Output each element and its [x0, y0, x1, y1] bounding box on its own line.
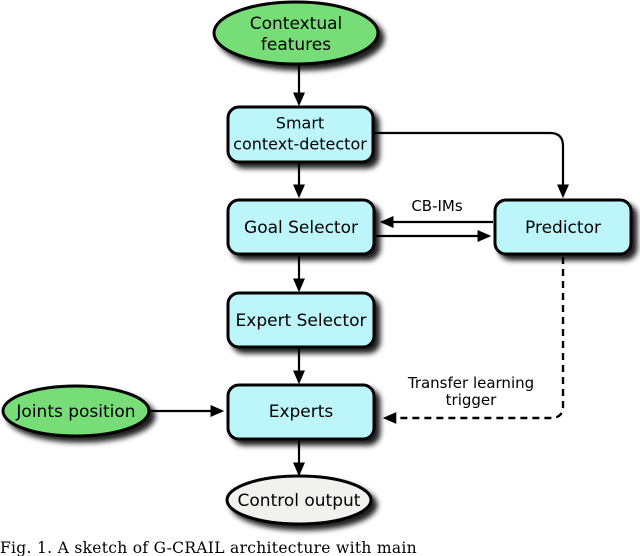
contextual-features-label-line2: features	[261, 35, 331, 55]
node-goal-selector[interactable]: Goal Selector	[228, 200, 374, 254]
smart-context-detector-label-line2: context-detector	[233, 135, 367, 154]
smart-context-detector-label-line1: Smart	[276, 114, 324, 133]
edge-label-transfer-learning-line2: trigger	[446, 391, 497, 409]
node-joints-position[interactable]: Joints position	[3, 386, 149, 436]
edge-detector-to-predictor	[374, 133, 563, 196]
experts-label: Experts	[269, 402, 334, 422]
figure-canvas: Contextual features Smart context-detect…	[0, 0, 640, 556]
predictor-label: Predictor	[525, 218, 601, 238]
expert-selector-label: Expert Selector	[236, 311, 367, 331]
node-smart-context-detector[interactable]: Smart context-detector	[228, 107, 373, 162]
edge-label-cb-ims: CB-IMs	[411, 197, 463, 215]
architecture-diagram: Contextual features Smart context-detect…	[0, 0, 640, 556]
node-layer: Contextual features Smart context-detect…	[3, 2, 631, 524]
node-experts[interactable]: Experts	[228, 385, 374, 439]
edge-label-transfer-learning-line1: Transfer learning	[407, 374, 534, 392]
figure-caption: Fig. 1. A sketch of G-CRAIL architecture…	[0, 538, 640, 556]
joints-position-label: Joints position	[15, 402, 135, 422]
control-output-label: Control output	[238, 491, 361, 511]
node-expert-selector[interactable]: Expert Selector	[228, 293, 374, 347]
node-control-output[interactable]: Control output	[227, 476, 371, 524]
node-contextual-features[interactable]: Contextual features	[214, 2, 378, 64]
goal-selector-label: Goal Selector	[244, 218, 358, 238]
node-predictor[interactable]: Predictor	[495, 200, 631, 254]
contextual-features-label-line1: Contextual	[250, 14, 343, 34]
